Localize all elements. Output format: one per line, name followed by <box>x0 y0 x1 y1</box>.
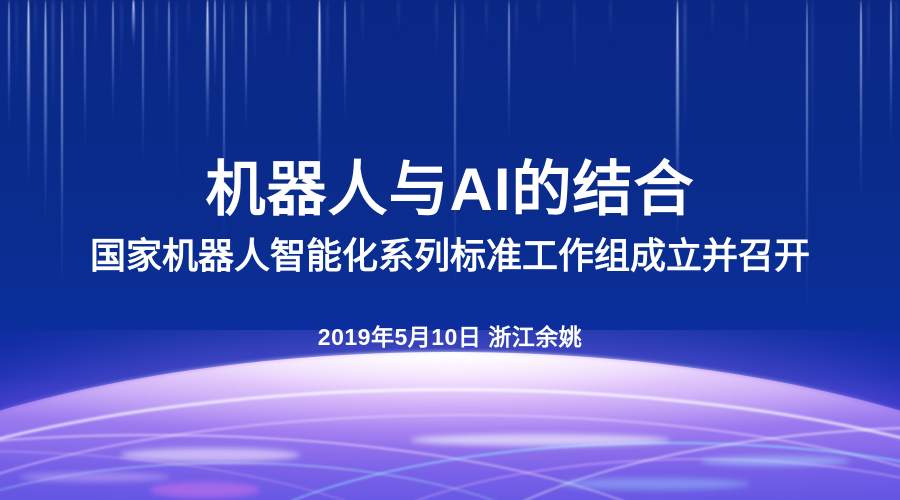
banner-subtitle: 国家机器人智能化系列标准工作组成立并召开 <box>90 236 810 276</box>
conference-banner: 机器人与AI的结合 国家机器人智能化系列标准工作组成立并召开 2019年5月10… <box>0 0 900 500</box>
banner-text-block: 机器人与AI的结合 国家机器人智能化系列标准工作组成立并召开 2019年5月10… <box>0 0 900 500</box>
banner-title: 机器人与AI的结合 <box>206 158 695 222</box>
banner-date-location: 2019年5月10日 浙江余姚 <box>318 318 582 352</box>
